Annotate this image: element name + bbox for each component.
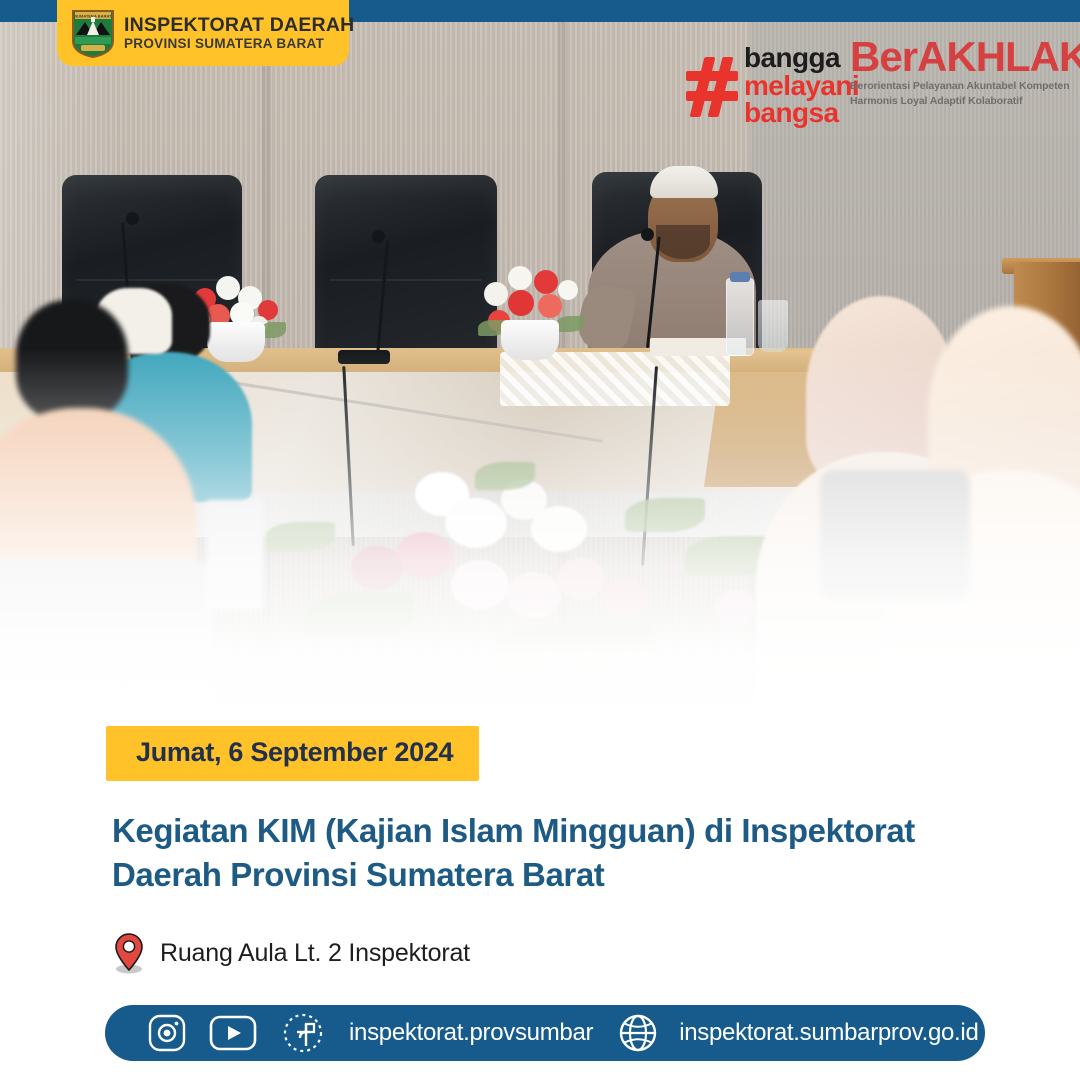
berakhlak-subtitle-1: Berorientasi Pelayanan Akuntabel Kompete…	[850, 80, 1080, 93]
social-handle[interactable]: inspektorat.provsumbar	[349, 1019, 593, 1047]
event-venue: Ruang Aula Lt. 2 Inspektorat	[112, 932, 1080, 974]
bangga-line3: bangsa	[744, 99, 859, 127]
berakhlak-wordmark: BerAKHLAK	[850, 36, 1080, 78]
event-photo	[0, 0, 1080, 740]
event-venue-text: Ruang Aula Lt. 2 Inspektorat	[160, 939, 470, 968]
location-pin-icon	[112, 932, 146, 974]
chair	[315, 175, 497, 361]
brand-badge: SUMATERA BARAT INSPEKTORAT DAERAH PROVIN…	[57, 0, 349, 66]
event-poster: SUMATERA BARAT INSPEKTORAT DAERAH PROVIN…	[0, 0, 1080, 1080]
bangga-line1: bangga	[744, 44, 859, 72]
bangga-melayani-bangsa-logo: bangga melayani bangsa	[686, 44, 859, 127]
youtube-icon[interactable]	[209, 1015, 257, 1051]
sumatera-barat-crest-icon: SUMATERA BARAT	[71, 8, 115, 58]
drinking-glass	[758, 300, 788, 352]
footer-contact-bar: inspektorat.provsumbar inspektorat.sumba…	[105, 1005, 985, 1061]
kopiah-icon	[650, 166, 718, 198]
berakhlak-subtitle-2: Harmonis Loyal Adaptif Kolaboratif	[850, 95, 1080, 108]
website-url[interactable]: inspektorat.sumbarprov.go.id	[679, 1019, 978, 1047]
instagram-icon[interactable]	[147, 1013, 187, 1053]
flower-vase	[478, 266, 582, 360]
event-title: Kegiatan KIM (Kajian Islam Mingguan) di …	[112, 809, 1012, 896]
berakhlak-logo: BerAKHLAK Berorientasi Pelayanan Akuntab…	[850, 36, 1080, 108]
table-doily	[500, 352, 730, 406]
event-date-badge: Jumat, 6 September 2024	[106, 726, 479, 781]
event-details: Jumat, 6 September 2024 Kegiatan KIM (Ka…	[0, 726, 1080, 974]
hashtag-icon	[686, 55, 738, 117]
bangga-line2: melayani	[744, 72, 859, 100]
facebook-icon[interactable]	[281, 1011, 325, 1055]
brand-subtitle: PROVINSI SUMATERA BARAT	[124, 37, 354, 51]
globe-icon[interactable]	[617, 1012, 659, 1054]
brand-title: INSPEKTORAT DAERAH	[124, 15, 354, 35]
water-bottle	[726, 278, 754, 356]
